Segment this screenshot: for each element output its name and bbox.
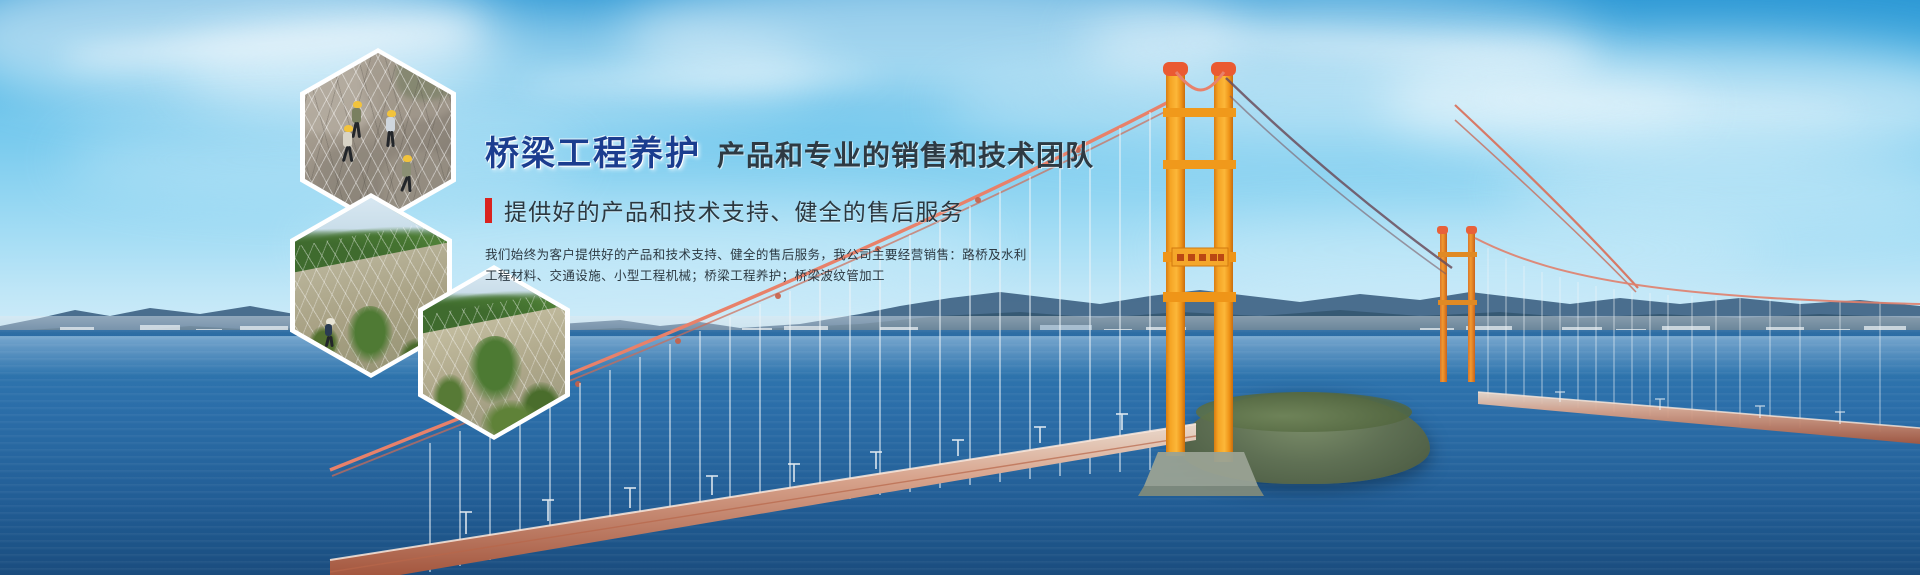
banner-body-text: 我们始终为客户提供好的产品和技术支持、健全的售后服务，我公司主要经营销售：路桥及…	[485, 245, 905, 287]
subheading-row: 提供好的产品和技术支持、健全的售后服务	[485, 193, 1265, 227]
subheading-text: 提供好的产品和技术支持、健全的售后服务	[504, 193, 964, 227]
suspension-bridge	[0, 0, 1920, 575]
bridge-tower-far	[1437, 226, 1477, 382]
headline-secondary: 产品和专业的销售和技术团队	[717, 134, 1094, 174]
red-accent-bar	[485, 198, 492, 223]
photo-hex-vegetated-slope	[418, 265, 570, 440]
banner-text-block: 桥梁工程养护 产品和专业的销售和技术团队 提供好的产品和技术支持、健全的售后服务…	[485, 126, 1265, 287]
headline-primary: 桥梁工程养护	[485, 126, 701, 175]
hero-banner: 桥梁工程养护 产品和专业的销售和技术团队 提供好的产品和技术支持、健全的售后服务…	[0, 0, 1920, 575]
body-line: 工程材料、交通设施、小型工程机械；桥梁工程养护；桥梁波纹管加工	[485, 266, 905, 287]
headline-row: 桥梁工程养护 产品和专业的销售和技术团队	[485, 126, 1265, 175]
body-line: 我们始终为客户提供好的产品和技术支持、健全的售后服务，我公司主要经营销售：路桥及…	[485, 245, 905, 266]
